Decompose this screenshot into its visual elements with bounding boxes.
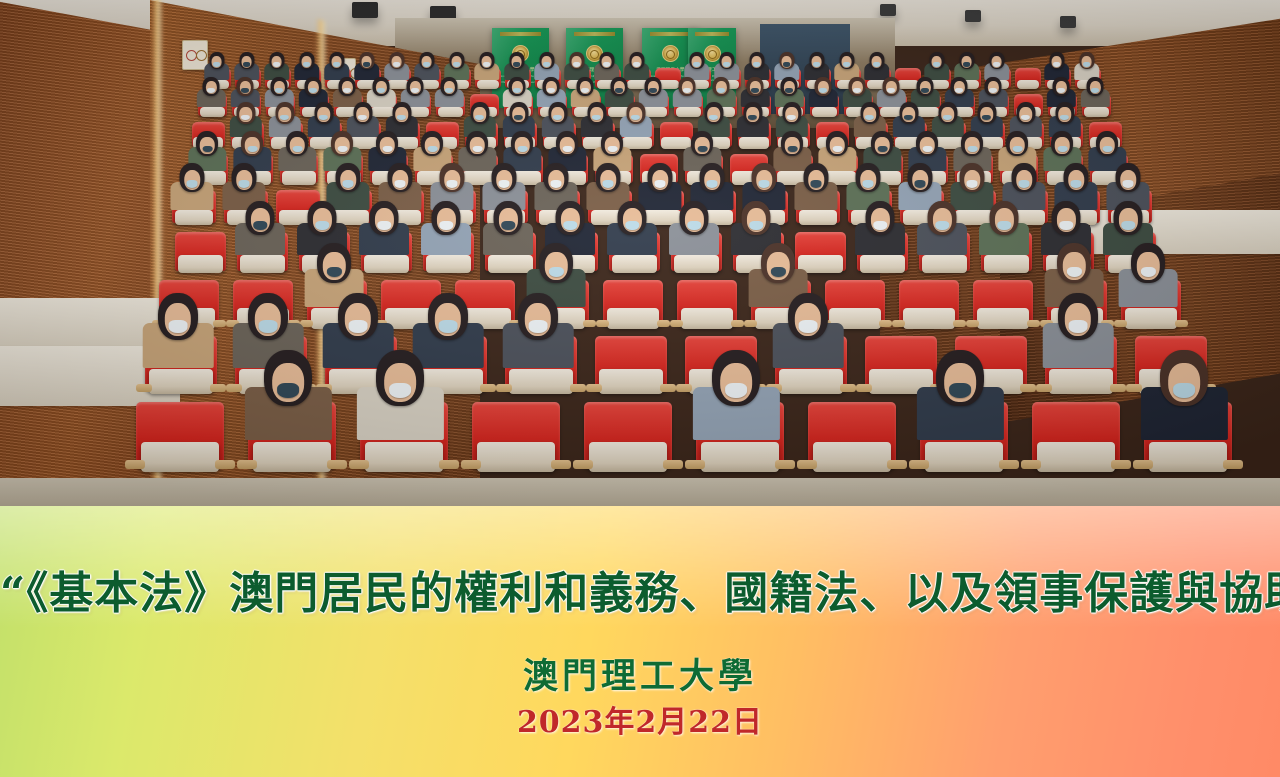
seat-armrest [551,460,570,469]
seat-back-panel [903,308,956,329]
attendee-head [804,163,829,192]
attendee-head [985,77,1002,96]
attendee-face [444,81,455,94]
attendee-face [808,170,825,190]
attendee-head [961,131,983,156]
face-mask-icon [363,62,370,67]
attendee [420,201,474,255]
attendee [263,52,290,79]
attendee-face [302,56,312,68]
attendee [668,201,722,255]
face-mask-icon [333,62,340,67]
face-mask-icon [207,88,215,93]
face-mask-icon [1141,267,1157,278]
attendee-face [818,81,829,94]
attendee-face [871,208,890,232]
attendee [293,52,320,79]
seat-back-panel [599,369,662,394]
attendee-face [496,170,513,190]
face-mask-icon [874,221,887,230]
attendee-face [560,137,575,155]
face-mask-icon [186,180,198,188]
attendee-head [929,52,944,69]
attendee [593,52,620,79]
face-mask-icon [771,267,787,278]
attendee-face [342,81,353,94]
attendee-face [561,208,580,232]
attendee-head [158,293,198,340]
attendee-face [422,56,432,68]
attendee-head [308,201,337,235]
face-mask-icon [914,180,926,188]
seat-armrest [775,460,794,469]
seat-back-panel [799,210,838,225]
attendee [833,52,860,79]
face-mask-icon [547,88,555,93]
attendee-face [308,81,319,94]
seat-back-panel [240,255,285,273]
face-mask-icon [688,221,701,230]
face-mask-icon [382,146,392,153]
face-mask-icon [259,320,277,332]
attendee-head [869,52,884,69]
seat-back-panel [701,442,778,472]
seat-armrest [744,320,757,326]
seat-back-panel [589,442,666,472]
attendee [413,52,440,79]
seat-back-panel [175,210,214,225]
attendee-face [385,363,417,402]
seat-back-panel [438,107,464,117]
seat-armrest [1020,384,1036,392]
attendee-head [938,102,957,124]
attendee-head [556,201,585,235]
attendee-face [785,137,800,155]
face-mask-icon [529,320,547,332]
attendee-head [1058,293,1098,340]
face-mask-icon [241,88,249,93]
attendee-face [852,81,863,94]
seat-back-panel [178,255,223,273]
face-mask-icon [993,62,1000,67]
attendee-head [788,293,828,340]
attendee [1080,77,1110,107]
attendee-head [700,163,725,192]
seat-back-panel [813,442,890,472]
face-mask-icon [254,221,267,230]
attendee-face [1082,56,1092,68]
attendee-face [629,107,642,122]
auditorium-seat [472,402,560,468]
attendee [863,52,890,79]
seat-back-panel [1017,80,1040,89]
face-mask-icon [813,62,820,67]
seat-armrest [887,460,906,469]
attendee-head [826,131,848,156]
attendee-face [747,208,766,232]
seat-back-panel [612,255,657,273]
attendee-head [752,163,777,192]
seat-armrest [840,384,856,392]
seat-armrest [892,320,905,326]
attendee-head [248,293,288,340]
banner-top-bar [574,32,615,36]
attendee-face [392,170,409,190]
face-mask-icon [626,221,639,230]
face-mask-icon [377,88,385,93]
face-mask-icon [514,115,523,121]
attendee-face [782,56,792,68]
attendee-head [936,350,984,406]
attendee-head [860,102,879,124]
banner-top-bar [695,32,730,36]
face-mask-icon [327,267,343,278]
attendee-head [376,131,398,156]
face-mask-icon [498,180,510,188]
attendee-head [449,52,464,69]
face-mask-icon [887,88,895,93]
seat-back-panel [925,442,1002,472]
face-mask-icon [819,88,827,93]
attendee-face [746,107,759,122]
attendee-face [380,137,395,155]
attendee [323,52,350,79]
attendee-head [269,52,284,69]
face-mask-icon [697,146,707,153]
attendee-face [756,170,773,190]
face-mask-icon [748,115,757,121]
seat-armrest [461,460,480,469]
face-mask-icon [573,62,580,67]
face-mask-icon [654,180,666,188]
face-mask-icon [865,115,874,121]
attendee-face [1052,56,1062,68]
face-mask-icon [751,88,759,93]
attendee-face [278,107,291,122]
attendee [683,52,710,79]
attendee-head [648,163,673,192]
auditorium-seat [1032,402,1120,468]
attendee-head [1096,131,1118,156]
seat-armrest [215,460,234,469]
attendee-head [275,102,294,124]
attendee-face [551,107,564,122]
face-mask-icon [393,62,400,67]
seat-back-panel [860,255,905,273]
face-mask-icon [316,221,329,230]
attendee-head [916,131,938,156]
face-mask-icon [562,146,572,153]
attendee-head [1055,102,1074,124]
attendee-face [1090,81,1101,94]
attendee-head [479,52,494,69]
attendee [793,163,839,209]
face-mask-icon [550,180,562,188]
attendee [978,201,1032,255]
attendee-head [509,52,524,69]
attendee-head [611,77,628,96]
seat-armrest [570,384,586,392]
face-mask-icon [411,88,419,93]
attendee [233,52,260,79]
attendee-face [721,363,753,402]
seat-armrest [663,460,682,469]
face-mask-icon [472,146,482,153]
attendee-head [599,52,614,69]
face-mask-icon [280,115,289,121]
attendee-head [317,243,351,283]
face-mask-icon [303,62,310,67]
attendee-head [1160,350,1208,406]
face-mask-icon [238,180,250,188]
attendee [735,102,770,137]
attendee-head [645,77,662,96]
attendee-head [1087,77,1104,96]
attendee-face [470,137,485,155]
attendee-head [196,131,218,156]
attendee-face [425,137,440,155]
attendee-head [331,131,353,156]
attendee-head [809,52,824,69]
seat-armrest [210,384,226,392]
attendee-face [648,81,659,94]
auditorium-seat [899,280,959,326]
attendee-face [512,81,523,94]
face-mask-icon [758,180,770,188]
attendee-face [392,56,402,68]
attendee-face [1119,208,1138,232]
face-mask-icon [553,115,562,121]
face-mask-icon [949,383,971,398]
seat-back-panel [149,369,212,394]
seat-armrest [657,320,670,326]
face-mask-icon [1069,320,1087,332]
attendee-head [626,102,645,124]
attendee-head [548,102,567,124]
seat-armrest [670,320,683,326]
attendee-head [1006,131,1028,156]
seat-armrest [480,384,496,392]
face-mask-icon [446,180,458,188]
attendee-face [964,170,981,190]
attendee [383,52,410,79]
attendee-head [742,201,771,235]
attendee [234,201,288,255]
poster-page: 澳門理工大學 Universidade Politécnica de Macau… [0,0,1280,777]
front-floor [0,478,1280,506]
ceiling-light-icon [1060,16,1076,28]
attendee [623,52,650,79]
group-photo: 澳門理工大學 Universidade Politécnica de Macau… [0,0,1280,506]
attendee [1117,243,1180,307]
attendee-face [1100,137,1115,155]
attendee-face [376,81,387,94]
attendee-head [494,201,523,235]
attendee-head [1064,163,1089,192]
seat-armrest [1021,460,1040,469]
attendee-face [872,56,882,68]
face-mask-icon [1083,62,1090,67]
attendee-head [543,77,560,96]
seat-armrest [1175,320,1188,326]
attendee-face [695,137,710,155]
attendee-head [286,131,308,156]
seat-armrest [999,460,1018,469]
attendee-face [395,107,408,122]
attendee [923,52,950,79]
attendee-face [313,208,332,232]
seat-armrest [685,460,704,469]
attendee-face [435,303,461,336]
attendee-head [1051,131,1073,156]
attendee-face [941,107,954,122]
seat-armrest [856,384,872,392]
attendee-head [618,201,647,235]
face-mask-icon [440,221,453,230]
face-mask-icon [853,88,861,93]
face-mask-icon [243,62,250,67]
attendee-face [444,170,461,190]
attendee [563,52,590,79]
attendee-head [209,52,224,69]
attendee-head [1053,77,1070,96]
seat-armrest [439,460,458,469]
attendee-face [290,137,305,155]
face-mask-icon [709,115,718,121]
seat-back-panel [984,255,1029,273]
face-mask-icon [564,221,577,230]
attendee [953,52,980,79]
face-mask-icon [967,146,977,153]
attendee-face [212,56,222,68]
attendee-head [1012,163,1037,192]
attendee [140,293,216,368]
seat-back-panel [253,442,330,472]
face-mask-icon [1070,180,1082,188]
attendee-face [623,208,642,232]
face-mask-icon [1018,180,1030,188]
attendee-face [590,107,603,122]
attendee-face [410,81,421,94]
attendee-head [779,52,794,69]
face-mask-icon [631,115,640,121]
seat-armrest [596,320,609,326]
face-mask-icon [936,221,949,230]
attendee-head [866,201,895,235]
attendee-head [781,131,803,156]
attendee-face [632,56,642,68]
attendee-face [512,56,522,68]
attendee-face [1057,208,1076,232]
attendee-face [600,170,617,190]
attendee-face [239,107,252,122]
face-mask-icon [904,115,913,121]
face-mask-icon [513,62,520,67]
attendee-head [747,77,764,96]
attendee-head [989,52,1004,69]
event-title: “《基本法》澳門居民的權利和義務、國籍法、以及領事保護與協助”講座 [0,568,1280,620]
attendee-face [356,107,369,122]
attendee-head [871,131,893,156]
face-mask-icon [706,180,718,188]
attendee-head [389,52,404,69]
face-mask-icon [717,88,725,93]
face-mask-icon [427,146,437,153]
face-mask-icon [1122,180,1134,188]
attendee-head [849,77,866,96]
attendee-head [339,77,356,96]
attendee-face [542,56,552,68]
attendee-head [713,77,730,96]
seat-armrest [226,384,242,392]
attendee-head [719,52,734,69]
attendee-face [340,170,357,190]
face-mask-icon [378,221,391,230]
attendee-face [1056,81,1067,94]
seat-back-panel [1084,107,1110,117]
seat-armrest [731,320,744,326]
attendee-face [1169,363,1201,402]
face-mask-icon [389,383,411,398]
seat-armrest [1110,384,1126,392]
face-mask-icon [955,88,963,93]
seat-armrest [879,320,892,326]
attendee-head [305,77,322,96]
attendee-head [376,350,424,406]
attendee-face [863,107,876,122]
attendee-face [784,81,795,94]
attendee-face [546,81,557,94]
attendee-head [246,201,275,235]
attendee-face [515,137,530,155]
attendee-head [441,77,458,96]
attendee-face [1137,252,1159,280]
attendee-face [273,363,305,402]
attendee-head [629,52,644,69]
banner-top-bar [650,32,691,36]
attendee-face [274,81,285,94]
ceiling-light-icon [965,10,981,22]
attendee [803,52,830,79]
attendee-face [1019,107,1032,122]
face-mask-icon [933,62,940,67]
face-mask-icon [832,146,842,153]
attendee-face [750,81,761,94]
attendee [606,201,660,255]
attendee-head [511,131,533,156]
attendee-face [954,81,965,94]
attendee-face [580,81,591,94]
attendee-face [317,107,330,122]
attendee [443,52,470,79]
auditorium-seat [584,402,672,468]
attendee [533,52,560,79]
attendee-head [370,201,399,235]
attendee-face [240,81,251,94]
face-mask-icon [753,62,760,67]
seat-armrest [797,460,816,469]
audience-seating [0,60,1280,506]
attendee [916,201,970,255]
face-mask-icon [502,221,515,230]
face-mask-icon [475,115,484,121]
attendee [353,52,380,79]
event-date: 2023年2月22日 [0,704,1280,742]
seat-armrest [237,460,256,469]
face-mask-icon [982,115,991,121]
seat-armrest [327,460,346,469]
attendee-head [712,350,760,406]
